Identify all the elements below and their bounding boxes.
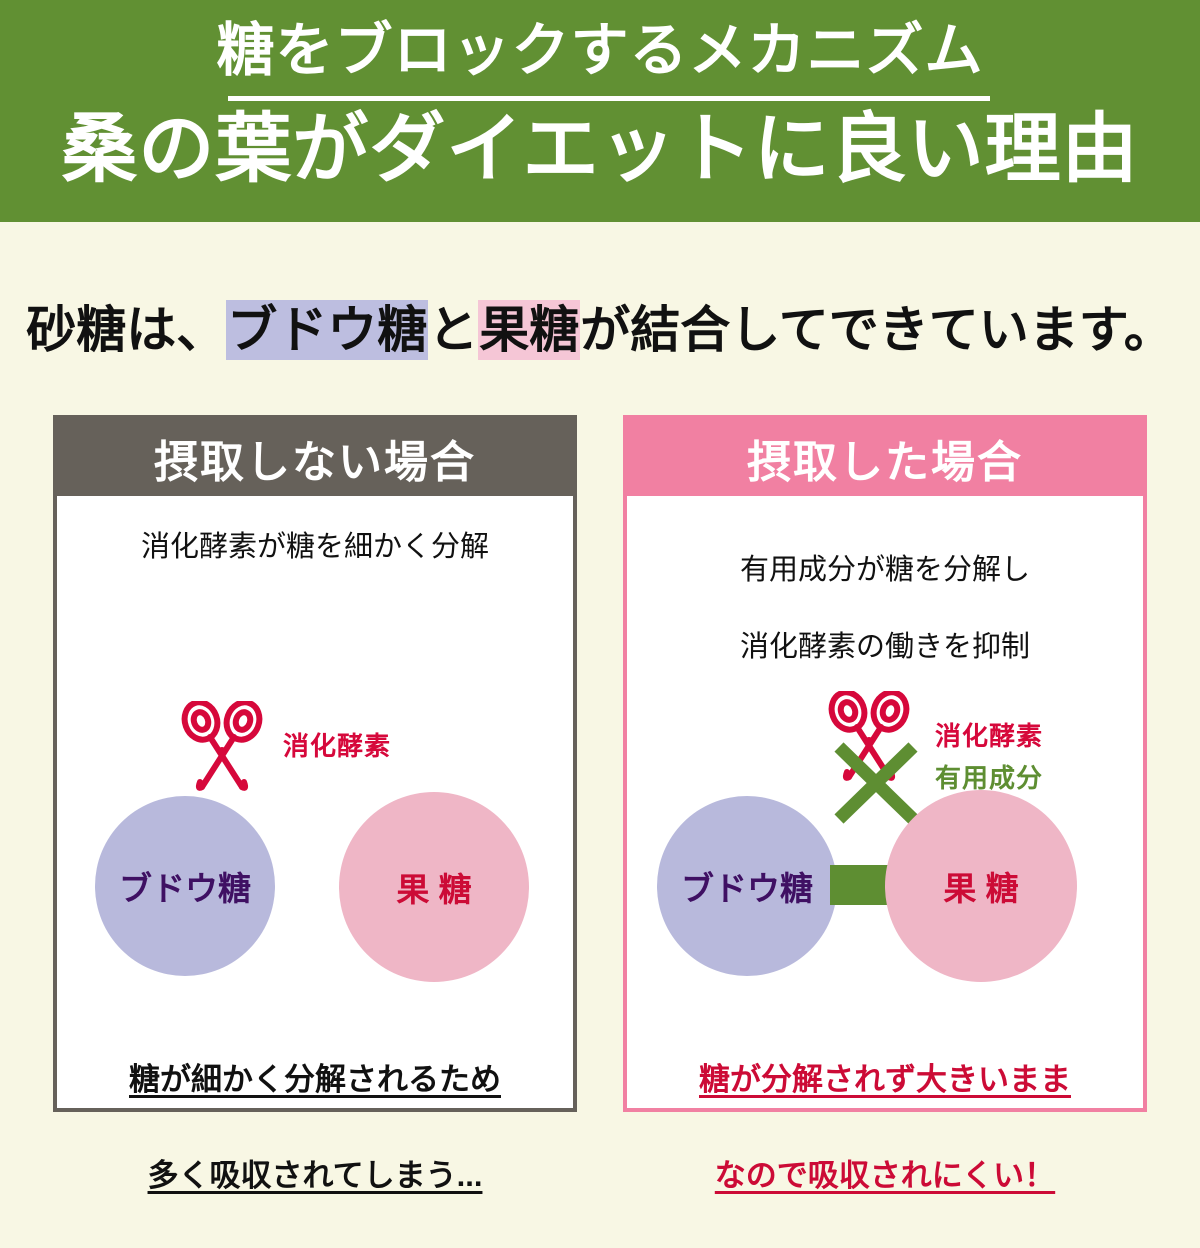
panel-left-footer-line1: 糖が細かく分解されるため — [57, 1056, 573, 1104]
panel-right-header: 摂取した場合 — [627, 419, 1143, 496]
circle-glucose-right: ブドウ糖 — [657, 796, 837, 976]
enzyme-legend-label-left: 消化酵素 — [283, 726, 391, 763]
panel-without-intake: 摂取しない場合 消化酵素が糖を細かく分解 — [53, 415, 577, 1112]
subtitle-highlight-glucose: ブドウ糖 — [226, 300, 428, 360]
panel-right-body: 有用成分が糖を分解し 消化酵素の働きを抑制 — [627, 496, 1143, 1108]
circle-fructose-right: 果 糖 — [885, 790, 1077, 982]
panel-right-lead-line2: 消化酵素の働きを抑制 — [740, 631, 1030, 663]
header-title-line1: 糖をブロックするメカニズム — [0, 22, 1200, 80]
glucose-fructose-bond — [830, 865, 891, 905]
enzyme-legend-label-right: 消化酵素 — [935, 716, 1043, 753]
subtitle-middle: と — [428, 302, 478, 358]
panel-right-footer-line1: 糖が分解されず大きいまま — [627, 1056, 1143, 1104]
header-title-line2: 桑の葉がダイエットに良い理由 — [0, 112, 1200, 188]
panel-right-footer-line2: なので吸収されにくい！ — [627, 1152, 1143, 1200]
cross-out-x-icon — [831, 739, 921, 827]
scissors-icon — [180, 701, 264, 793]
header-title-underline — [228, 96, 990, 101]
panel-left-footer: 糖が細かく分解されるため 多く吸収されてしまう... — [57, 1008, 573, 1248]
panel-right-lead-line1: 有用成分が糖を分解し — [740, 554, 1030, 586]
circle-fructose-left: 果 糖 — [339, 792, 529, 982]
panel-left-lead-text: 消化酵素が糖を細かく分解 — [57, 528, 573, 566]
subtitle-highlight-fructose: 果糖 — [478, 300, 580, 360]
subtitle-sentence: 砂糖は、ブドウ糖と果糖が結合してできています。 — [0, 290, 1200, 362]
header-banner: 糖をブロックするメカニズム 桑の葉がダイエットに良い理由 — [0, 0, 1200, 222]
circle-glucose-left: ブドウ糖 — [95, 796, 275, 976]
panel-left-body: 消化酵素が糖を細かく分解 消化酵素 — [57, 496, 573, 1108]
subtitle-prefix: 砂糖は、 — [26, 302, 226, 358]
panel-left-footer-line2: 多く吸収されてしまう... — [57, 1152, 573, 1200]
panel-right-footer: 糖が分解されず大きいまま なので吸収されにくい！ — [627, 1008, 1143, 1248]
panel-with-intake: 摂取した場合 有用成分が糖を分解し 消化酵素の働きを抑制 — [623, 415, 1147, 1112]
panel-left-header: 摂取しない場合 — [57, 419, 573, 496]
panel-right-lead-text: 有用成分が糖を分解し 消化酵素の働きを抑制 — [627, 513, 1143, 666]
subtitle-suffix: が結合してできています。 — [580, 302, 1174, 358]
